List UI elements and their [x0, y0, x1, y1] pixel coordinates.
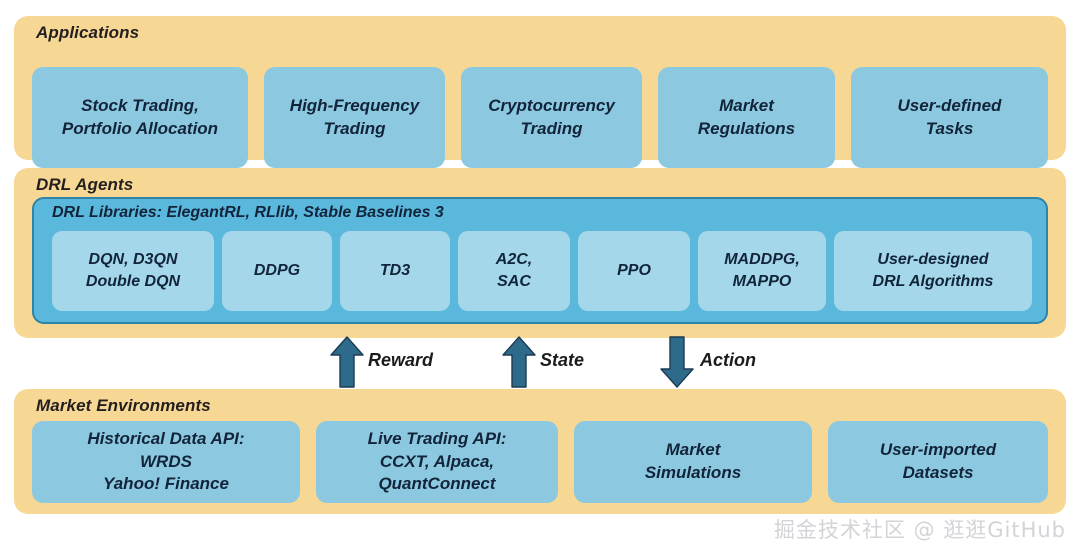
flow-label-action: Action: [700, 350, 756, 371]
algorithm-box-label: A2C, SAC: [496, 249, 532, 292]
algorithm-box-label: DDPG: [254, 260, 300, 282]
algorithm-box-label: TD3: [380, 260, 410, 282]
application-box-label: Cryptocurrency Trading: [488, 95, 615, 141]
drl-agents-panel-title: DRL Agents: [36, 175, 133, 195]
algorithm-box-label: DQN, D3QN Double DQN: [86, 249, 180, 292]
arrow-up-icon: [330, 336, 364, 388]
algorithm-box-user-designed[interactable]: User-designed DRL Algorithms: [834, 231, 1032, 311]
finrl-architecture-diagram: Applications Stock Trading, Portfolio Al…: [0, 0, 1080, 550]
algorithm-box-dqn[interactable]: DQN, D3QN Double DQN: [52, 231, 214, 311]
application-box-market-regulations[interactable]: Market Regulations: [658, 67, 835, 168]
algorithm-box-td3[interactable]: TD3: [340, 231, 450, 311]
application-box-cryptocurrency-trading[interactable]: Cryptocurrency Trading: [461, 67, 642, 168]
algorithm-box-ppo[interactable]: PPO: [578, 231, 690, 311]
environment-box-historical-data-api[interactable]: Historical Data API: WRDS Yahoo! Finance: [32, 421, 300, 503]
application-box-user-defined-tasks[interactable]: User-defined Tasks: [851, 67, 1048, 168]
market-environments-panel-title: Market Environments: [36, 396, 211, 416]
applications-panel: Applications Stock Trading, Portfolio Al…: [14, 16, 1066, 160]
market-environments-panel: Market Environments Historical Data API:…: [14, 389, 1066, 514]
application-box-stock-trading[interactable]: Stock Trading, Portfolio Allocation: [32, 67, 248, 168]
application-box-high-frequency-trading[interactable]: High-Frequency Trading: [264, 67, 445, 168]
arrow-down-icon: [660, 336, 694, 388]
algorithm-box-ddpg[interactable]: DDPG: [222, 231, 332, 311]
environment-box-label: User-imported Datasets: [880, 439, 996, 485]
applications-panel-title: Applications: [36, 23, 139, 43]
environment-box-user-imported-datasets[interactable]: User-imported Datasets: [828, 421, 1048, 503]
environment-box-label: Historical Data API: WRDS Yahoo! Finance: [87, 428, 244, 497]
algorithm-box-label: MADDPG, MAPPO: [724, 249, 800, 292]
arrow-up-icon: [502, 336, 536, 388]
flow-label-state: State: [540, 350, 584, 371]
application-box-label: Market Regulations: [698, 95, 795, 141]
application-box-label: High-Frequency Trading: [290, 95, 419, 141]
application-box-label: User-defined Tasks: [898, 95, 1002, 141]
environment-box-market-simulations[interactable]: Market Simulations: [574, 421, 812, 503]
environment-box-label: Market Simulations: [645, 439, 741, 485]
arrow-up-icon-state: [502, 336, 536, 388]
drl-libraries-label: DRL Libraries: ElegantRL, RLlib, Stable …: [52, 204, 444, 222]
algorithm-box-label: PPO: [617, 260, 651, 282]
drl-agents-panel: DRL Agents DRL Libraries: ElegantRL, RLl…: [14, 168, 1066, 338]
flow-label-reward: Reward: [368, 350, 433, 371]
watermark-text: 掘金技术社区 @ 逛逛GitHub: [774, 514, 1066, 544]
environment-box-label: Live Trading API: CCXT, Alpaca, QuantCon…: [368, 428, 507, 497]
arrow-up-icon-reward: [330, 336, 364, 388]
arrow-down-icon-action: [660, 336, 694, 388]
algorithm-box-label: User-designed DRL Algorithms: [873, 249, 994, 292]
drl-libraries-panel: DRL Libraries: ElegantRL, RLlib, Stable …: [32, 197, 1048, 324]
environment-box-live-trading-api[interactable]: Live Trading API: CCXT, Alpaca, QuantCon…: [316, 421, 558, 503]
application-box-label: Stock Trading, Portfolio Allocation: [62, 95, 218, 141]
algorithm-box-maddpg-mappo[interactable]: MADDPG, MAPPO: [698, 231, 826, 311]
algorithm-box-a2c-sac[interactable]: A2C, SAC: [458, 231, 570, 311]
